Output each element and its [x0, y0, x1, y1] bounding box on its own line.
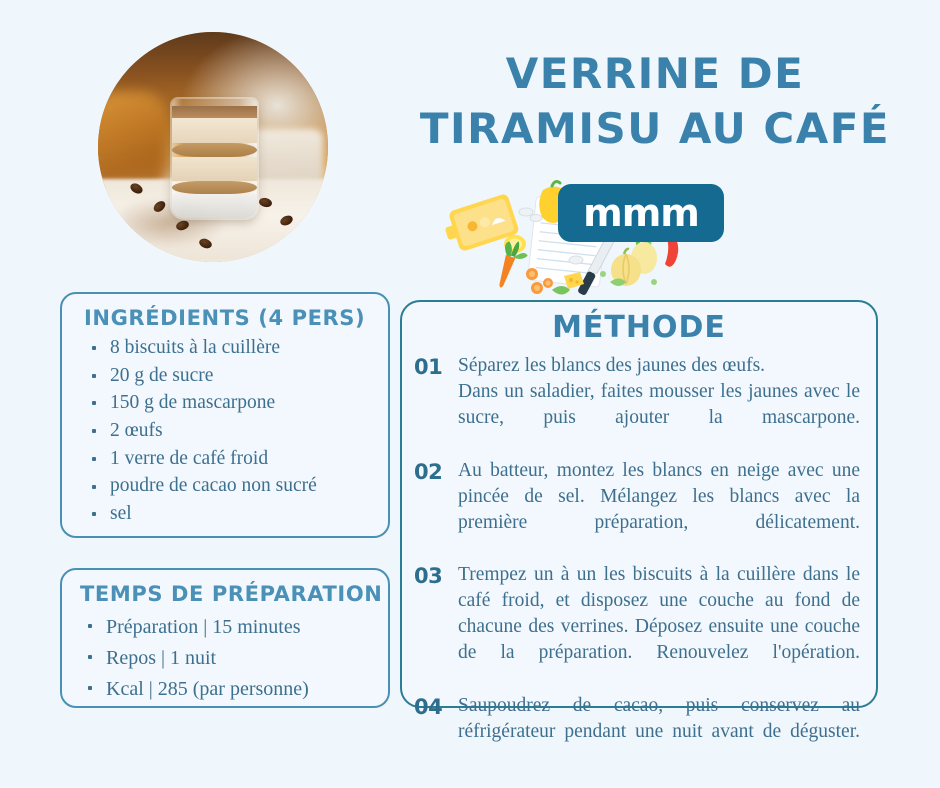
layer-cream-top — [172, 118, 257, 143]
recipe-photo — [98, 32, 328, 262]
ingredients-heading: Ingrédients (4 pers) — [84, 306, 388, 330]
list-item: 8 biscuits à la cuillère — [88, 334, 388, 362]
ingredients-list: 8 biscuits à la cuillère 20 g de sucre 1… — [62, 334, 388, 528]
step-paragraph: Saupoudrez de cacao, puis conservez au r… — [458, 693, 860, 771]
list-item: sel — [88, 500, 388, 528]
method-heading: Méthode — [402, 310, 876, 345]
step-paragraph: Trempez un à un les biscuits à la cuillè… — [458, 562, 860, 692]
logo-text: mmm — [583, 194, 699, 232]
preparation-time-card: Temps de préparation Préparation | 15 mi… — [60, 568, 390, 708]
step-text: Trempez un à un les biscuits à la cuillè… — [458, 562, 860, 692]
step-text: Au batteur, montez les blancs en neige a… — [458, 458, 860, 562]
mmm-logo-badge[interactable]: mmm — [558, 184, 724, 242]
step-paragraph: Au batteur, montez les blancs en neige a… — [458, 458, 860, 562]
step-paragraph: Dans un saladier, faites mousser les jau… — [458, 379, 860, 457]
list-item: 20 g de sucre — [88, 362, 388, 390]
step-paragraph: Séparez les blancs des jaunes des œufs. — [458, 353, 860, 379]
step-text: Saupoudrez de cacao, puis conservez au r… — [458, 693, 860, 771]
preparation-time-heading: Temps de préparation — [80, 582, 388, 606]
preparation-time-list: Préparation | 15 minutes Repos | 1 nuit … — [62, 612, 388, 705]
method-steps: 01 Séparez les blancs des jaunes des œuf… — [402, 353, 876, 771]
method-step: 04 Saupoudrez de cacao, puis conservez a… — [414, 693, 860, 771]
list-item: Préparation | 15 minutes — [84, 612, 388, 643]
layer-cream-mid — [172, 157, 257, 181]
page-title: Verrine de Tiramisu au café — [390, 46, 920, 157]
list-item: poudre de cacao non sucré — [88, 472, 388, 500]
layer-cocoa — [172, 106, 257, 118]
list-item: 150 g de mascarpone — [88, 389, 388, 417]
step-number: 04 — [414, 693, 458, 722]
list-item: 1 verre de café froid — [88, 445, 388, 473]
title-line-2: Tiramisu au café — [390, 101, 920, 156]
method-step: 01 Séparez les blancs des jaunes des œuf… — [414, 353, 860, 457]
method-step: 03 Trempez un à un les biscuits à la cui… — [414, 562, 860, 692]
brand-logo-block: mmm — [440, 178, 740, 296]
step-number: 01 — [414, 353, 458, 382]
layer-biscuit-upper — [172, 143, 257, 157]
list-item: Kcal | 285 (par personne) — [84, 674, 388, 705]
ingredients-card: Ingrédients (4 pers) 8 biscuits à la cui… — [60, 292, 390, 538]
step-number: 03 — [414, 562, 458, 591]
title-line-1: Verrine de — [390, 46, 920, 101]
step-number: 02 — [414, 458, 458, 487]
layer-glass-base — [172, 194, 257, 218]
list-item: 2 œufs — [88, 417, 388, 445]
step-text: Séparez les blancs des jaunes des œufs. … — [458, 353, 860, 457]
list-item: Repos | 1 nuit — [84, 643, 388, 674]
tiramisu-glass — [172, 99, 257, 219]
photo-blurred-bottle — [98, 92, 167, 189]
method-step: 02 Au batteur, montez les blancs en neig… — [414, 458, 860, 562]
layer-biscuit-lower — [172, 181, 257, 194]
method-card: Méthode 01 Séparez les blancs des jaunes… — [400, 300, 878, 708]
